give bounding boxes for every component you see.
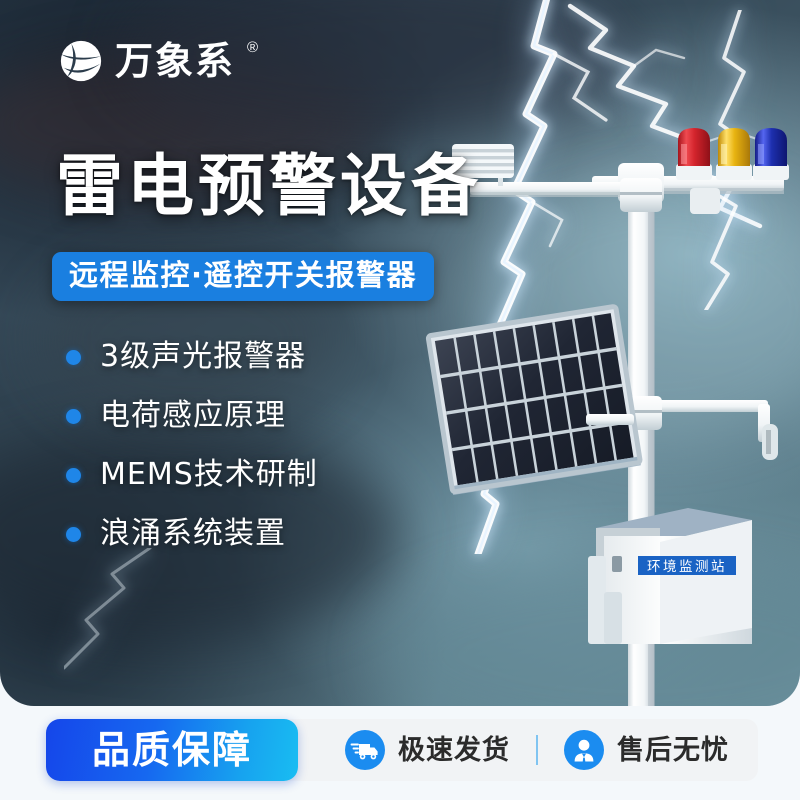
svg-text:环境监测站: 环境监测站 (647, 559, 727, 575)
product-poster: 环境监测站 万象系 ® 雷电预警设备 远程监控·遥控开关报警器 3级声光报警器 … (0, 0, 800, 800)
registered-trademark-symbol: ® (247, 40, 258, 55)
subtitle-badge: 远程监控·遥控开关报警器 (52, 252, 434, 301)
red-alarm-beacon (676, 128, 712, 180)
yellow-alarm-beacon (716, 128, 752, 180)
feature-label: MEMS技术研制 (100, 460, 318, 490)
delivery-truck-icon (345, 730, 385, 770)
blue-alarm-beacon (753, 128, 789, 180)
sensor-right-arm (650, 400, 770, 442)
quality-guarantee-label: 品质保障 (92, 731, 252, 769)
trust-item-after-sales[interactable]: 售后无忧 (564, 730, 729, 770)
subtitle-badge-label: 远程监控·遥控开关报警器 (69, 258, 417, 292)
feature-item: 浪涌系统装置 (66, 519, 318, 549)
trust-item-fast-shipping[interactable]: 极速发货 (345, 730, 510, 770)
quality-guarantee-badge[interactable]: 品质保障 (46, 719, 298, 781)
solar-panel-bracket (586, 414, 634, 425)
station-nameplate: 环境监测站 (638, 556, 736, 575)
globe-swoosh-logo-icon (58, 38, 104, 84)
feature-item: 电荷感应原理 (66, 401, 318, 431)
customer-service-icon (564, 730, 604, 770)
feature-item: 3级声光报警器 (66, 342, 318, 372)
trust-bar: 品质保障 极速发货 (46, 719, 758, 781)
bullet-dot-icon (66, 527, 81, 542)
brand-name: 万象系 (115, 42, 235, 80)
page-title: 雷电预警设备 (56, 152, 482, 222)
bullet-dot-icon (66, 409, 81, 424)
hanging-sensor (762, 424, 778, 460)
sensor-left-arm (470, 182, 632, 197)
bullet-dot-icon (66, 468, 81, 483)
brand-lockup: 万象系 ® (58, 38, 258, 84)
trust-item-label: 极速发货 (398, 737, 510, 764)
control-cabinet: 环境监测站 (588, 508, 752, 644)
bullet-dot-icon (66, 350, 81, 365)
feature-item: MEMS技术研制 (66, 460, 318, 490)
feature-label: 电荷感应原理 (100, 401, 286, 431)
feature-label: 浪涌系统装置 (100, 519, 286, 549)
trust-item-label: 售后无忧 (617, 737, 729, 764)
feature-label: 3级声光报警器 (100, 342, 306, 372)
feature-list: 3级声光报警器 电荷感应原理 MEMS技术研制 浪涌系统装置 (66, 342, 318, 549)
trust-divider (536, 735, 538, 765)
pole-clamp-upper (620, 178, 662, 212)
trust-item-group: 极速发货 售后无忧 (298, 719, 758, 781)
solar-panel (428, 306, 641, 495)
